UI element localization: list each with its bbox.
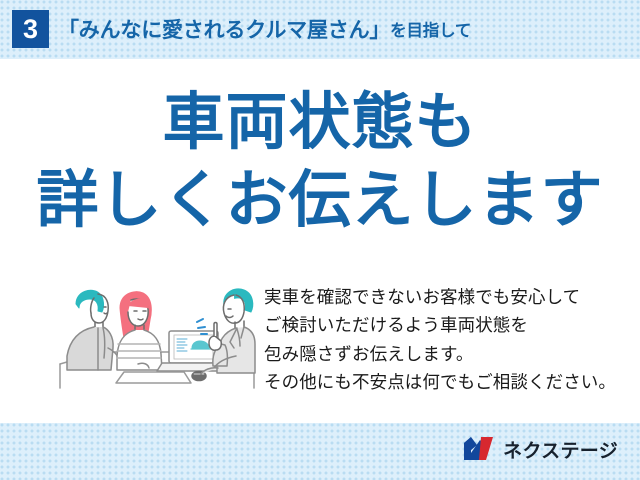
body-copy: 実車を確認できないお客様でも安心して ご検討いただけるよう車両状態を 包み隠さず… xyxy=(264,283,616,396)
promo-banner: 3 「みんなに愛されるクルマ屋さん」 を目指して 車両状態も 詳しくお伝えします xyxy=(0,0,640,480)
header-title: 「みんなに愛されるクルマ屋さん」 を目指して xyxy=(58,10,471,48)
hero-headline-line1: 車両状態も xyxy=(0,92,640,154)
body-copy-line: 実車を確認できないお客様でも安心して xyxy=(264,283,616,311)
consultation-illustration xyxy=(58,278,256,390)
body-copy-line: その他にも不安点は何でもご相談ください。 xyxy=(264,368,616,396)
section-number-badge: 3 xyxy=(12,10,49,48)
brand-logo: ネクステージ xyxy=(463,437,618,465)
body-copy-line: 包み隠さずお伝えします。 xyxy=(264,340,616,368)
hero-headline: 車両状態も 詳しくお伝えします xyxy=(0,92,640,232)
hero-headline-line2: 詳しくお伝えします xyxy=(0,170,640,232)
brand-wordmark: ネクステージ xyxy=(503,442,618,461)
nexstage-n-mark-icon xyxy=(463,436,496,466)
body-copy-line: ご検討いただけるよう車両状態を xyxy=(264,311,616,339)
header-title-sub: を目指して xyxy=(390,17,471,42)
header-title-main: 「みんなに愛されるクルマ屋さん」 xyxy=(58,14,390,44)
